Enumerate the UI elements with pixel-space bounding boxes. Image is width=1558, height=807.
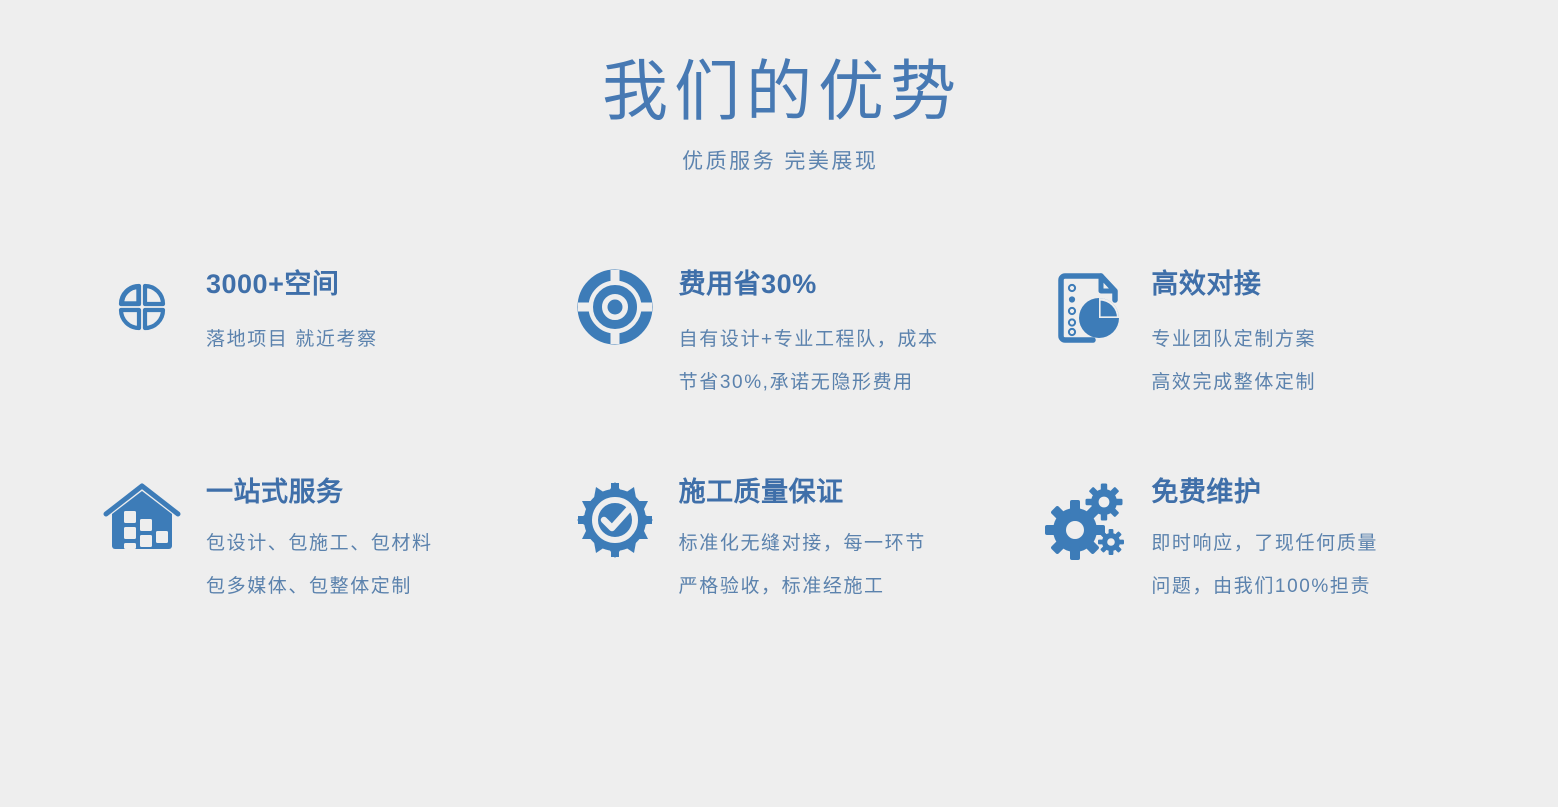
feature-description: 即时响应，了现任何质量 问题，由我们100%担责 [1151,522,1378,608]
feature-line: 严格验收，标准经施工 [679,565,926,608]
feature-description: 标准化无缝对接，每一环节 严格验收，标准经施工 [679,522,926,608]
page-header: 我们的优势 优质服务 完美展现 [0,0,1558,175]
feature-title: 3000+空间 [206,270,378,300]
check-badge-icon [573,476,657,568]
target-bullseye-icon [573,268,657,360]
feature-title: 免费维护 [1151,478,1378,508]
feature-line: 高效完成整体定制 [1151,361,1316,404]
gears-icon [1045,476,1129,568]
feature-line: 即时响应，了现任何质量 [1151,522,1378,565]
feature-title: 施工质量保证 [679,478,926,508]
feature-title: 一站式服务 [206,478,433,508]
feature-line: 问题，由我们100%担责 [1151,565,1378,608]
feature-title: 费用省30% [679,270,939,300]
feature-item-one-stop-service[interactable]: 一站式服务 包设计、包施工、包材料 包多媒体、包整体定制 [100,476,573,684]
feature-line: 包多媒体、包整体定制 [206,565,433,608]
feature-line: 自有设计+专业工程队，成本 [679,318,939,361]
feature-body: 高效对接 专业团队定制方案 高效完成整体定制 [1151,268,1316,404]
feature-line: 节省30%,承诺无隐形费用 [679,361,939,404]
feature-item-spaces[interactable]: 3000+空间 落地项目 就近考察 [100,268,573,476]
feature-line: 包设计、包施工、包材料 [206,522,433,565]
feature-description: 落地项目 就近考察 [206,318,378,361]
page-title: 我们的优势 [0,58,1558,125]
feature-description: 包设计、包施工、包材料 包多媒体、包整体定制 [206,522,433,608]
four-petals-icon [100,268,184,360]
feature-item-cost-saving[interactable]: 费用省30% 自有设计+专业工程队，成本 节省30%,承诺无隐形费用 [573,268,1046,476]
feature-line: 落地项目 就近考察 [206,318,378,361]
feature-body: 施工质量保证 标准化无缝对接，每一环节 严格验收，标准经施工 [679,476,926,608]
feature-body: 费用省30% 自有设计+专业工程队，成本 节省30%,承诺无隐形费用 [679,268,939,404]
feature-item-efficient-handover[interactable]: 高效对接 专业团队定制方案 高效完成整体定制 [1045,268,1518,476]
feature-description: 自有设计+专业工程队，成本 节省30%,承诺无隐形费用 [679,318,939,404]
feature-title: 高效对接 [1151,270,1316,300]
feature-grid: 3000+空间 落地项目 就近考察 [0,268,1558,684]
feature-line: 标准化无缝对接，每一环节 [679,522,926,565]
feature-line: 专业团队定制方案 [1151,318,1316,361]
feature-body: 3000+空间 落地项目 就近考察 [206,268,378,361]
feature-item-quality-guarantee[interactable]: 施工质量保证 标准化无缝对接，每一环节 严格验收，标准经施工 [573,476,1046,684]
house-icon [100,476,184,568]
page-subtitle: 优质服务 完美展现 [0,145,1558,175]
feature-item-free-maintenance[interactable]: 免费维护 即时响应，了现任何质量 问题，由我们100%担责 [1045,476,1518,684]
document-pie-chart-icon [1045,268,1129,360]
feature-body: 免费维护 即时响应，了现任何质量 问题，由我们100%担责 [1151,476,1378,608]
feature-body: 一站式服务 包设计、包施工、包材料 包多媒体、包整体定制 [206,476,433,608]
feature-description: 专业团队定制方案 高效完成整体定制 [1151,318,1316,404]
